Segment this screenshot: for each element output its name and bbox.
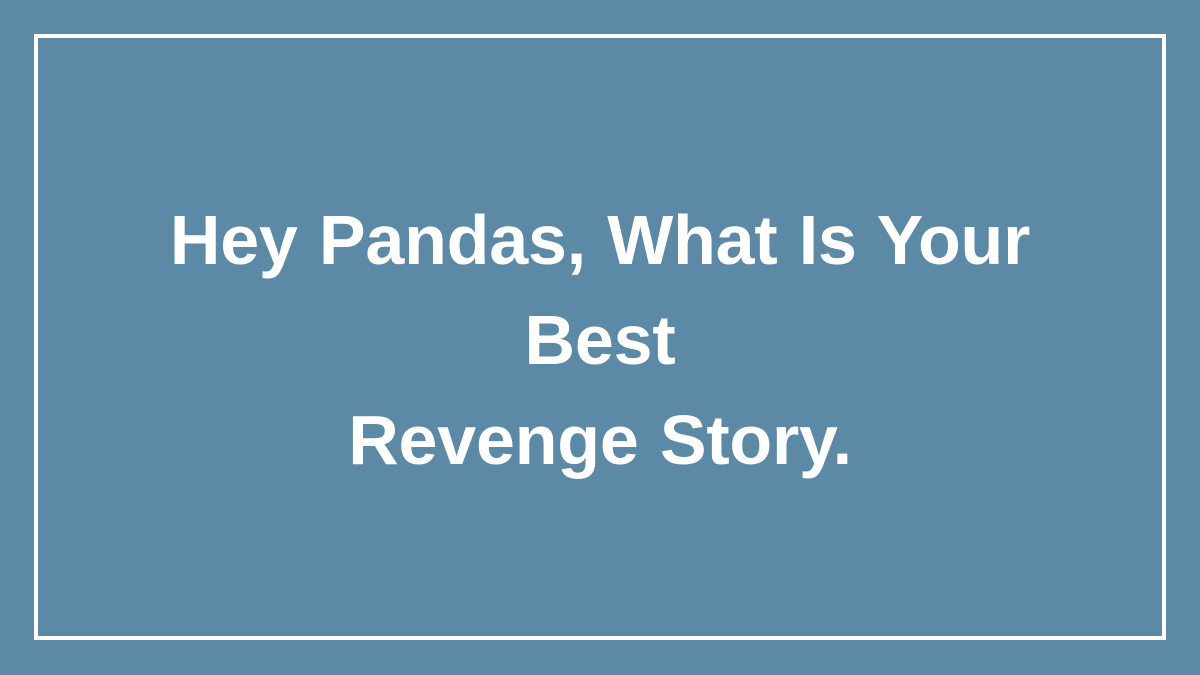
title-card: Hey Pandas, What Is Your Best Revenge St…	[0, 0, 1200, 675]
decorative-border-frame	[34, 34, 1166, 640]
